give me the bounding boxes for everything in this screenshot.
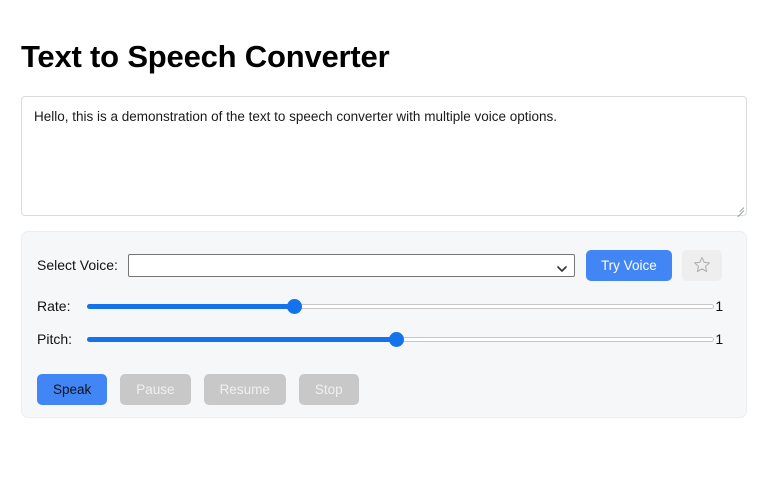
- rate-slider-thumb[interactable]: [287, 299, 302, 314]
- star-outline-icon: [693, 256, 711, 274]
- voice-select-wrapper: [128, 254, 575, 277]
- try-voice-button[interactable]: Try Voice: [586, 250, 672, 281]
- pitch-slider-row: Pitch: 1: [37, 329, 737, 349]
- favorite-voice-button[interactable]: [682, 250, 722, 281]
- pitch-slider-fill: [87, 337, 396, 342]
- pitch-value: 1: [715, 329, 737, 349]
- speech-text-input[interactable]: [21, 96, 747, 216]
- controls-panel: Select Voice: Try Voice: [21, 231, 747, 418]
- rate-slider-row: Rate: 1: [37, 296, 737, 316]
- voice-select[interactable]: [128, 254, 575, 277]
- pitch-slider[interactable]: [87, 330, 704, 348]
- pitch-label: Pitch:: [37, 329, 87, 349]
- stop-button[interactable]: Stop: [299, 374, 359, 405]
- playback-actions: Speak Pause Resume Stop: [37, 374, 359, 405]
- resume-button[interactable]: Resume: [204, 374, 286, 405]
- rate-label: Rate:: [37, 296, 87, 316]
- page-title: Text to Speech Converter: [21, 38, 389, 76]
- pause-button[interactable]: Pause: [120, 374, 190, 405]
- voice-selection-row: Select Voice: Try Voice: [37, 250, 722, 280]
- app-root: Text to Speech Converter Select Voice: T…: [0, 0, 768, 480]
- select-voice-label: Select Voice:: [37, 255, 118, 275]
- speak-button[interactable]: Speak: [37, 374, 107, 405]
- rate-value: 1: [715, 296, 737, 316]
- pitch-slider-thumb[interactable]: [389, 332, 404, 347]
- rate-slider-fill: [87, 304, 294, 309]
- rate-slider[interactable]: [87, 297, 704, 315]
